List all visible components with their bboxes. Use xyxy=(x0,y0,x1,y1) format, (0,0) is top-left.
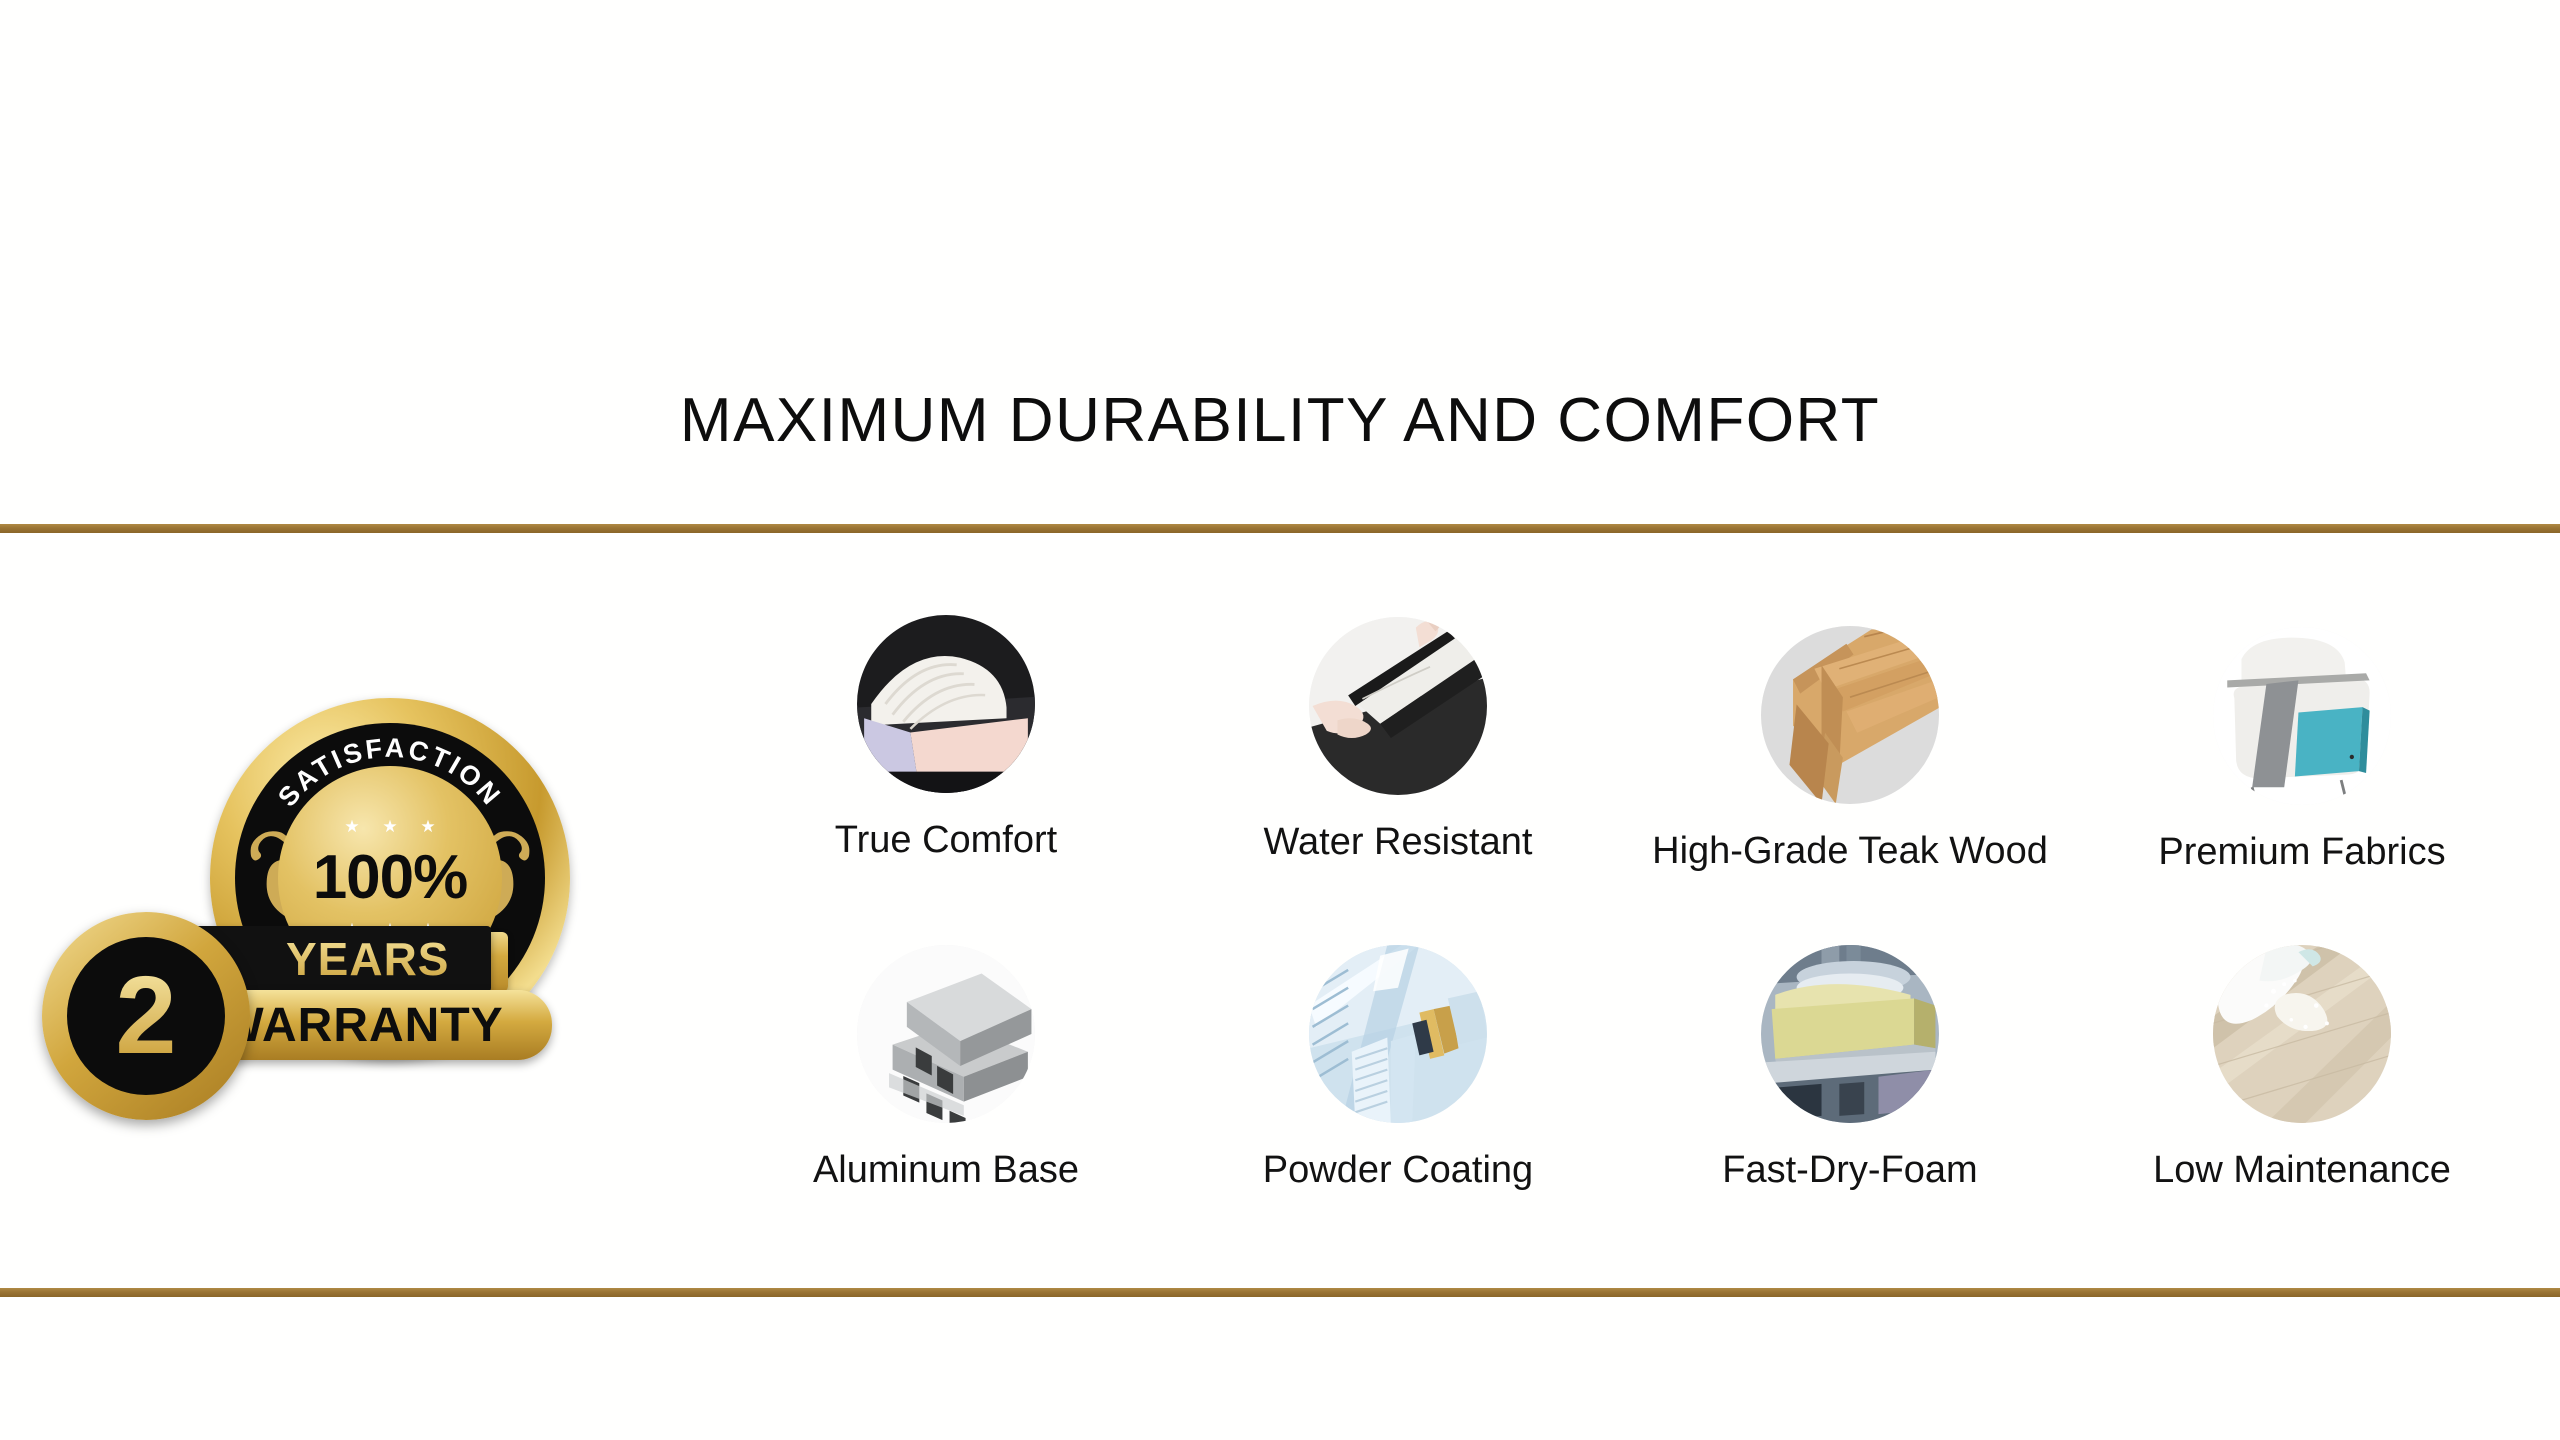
powder-coating-plant-icon xyxy=(1309,945,1487,1123)
divider-bottom xyxy=(0,1288,2560,1297)
feature-item-low-maintenance: Low Maintenance xyxy=(2076,945,2528,1192)
feature-item-premium-fabrics: Premium Fabrics xyxy=(2076,627,2528,874)
feature-item-powder-coating: Powder Coating xyxy=(1172,945,1624,1192)
teak-wood-corner-icon xyxy=(1761,626,1939,804)
seal-stars-top: ★ ★ ★ xyxy=(344,818,444,835)
liquid-on-fabric-icon xyxy=(2213,945,2391,1123)
badge-years-circle-inner: 2 xyxy=(67,937,225,1095)
feature-item-teak-wood: High-Grade Teak Wood xyxy=(1624,626,2076,874)
feature-item-fast-dry-foam: Fast-Dry-Foam xyxy=(1624,945,2076,1192)
foam-press-machine-icon xyxy=(1761,945,1939,1123)
feature-label: Water Resistant xyxy=(1264,821,1533,864)
feature-label: True Comfort xyxy=(835,819,1057,862)
badge-warranty-label: WARRANTY xyxy=(218,998,503,1053)
upholstered-armchair-icon xyxy=(2213,627,2391,805)
feature-item-true-comfort: True Comfort xyxy=(720,615,1172,874)
badge-years-label: YEARS xyxy=(286,932,449,986)
features-grid: True Comfort xyxy=(720,615,2530,1275)
feature-item-aluminum-base: Aluminum Base xyxy=(720,945,1172,1192)
seal-percent: 100% xyxy=(313,847,468,909)
feature-item-water-resistant: Water Resistant xyxy=(1172,617,1624,874)
badge-years-number: 2 xyxy=(115,961,176,1071)
features-row-2: Aluminum Base xyxy=(720,945,2530,1192)
slide-canvas: MAXIMUM DURABILITY AND COMFORT SATISFACT… xyxy=(0,0,2560,1440)
feature-label: Powder Coating xyxy=(1263,1149,1533,1192)
feature-label: Aluminum Base xyxy=(813,1149,1079,1192)
feature-label: Low Maintenance xyxy=(2153,1149,2451,1192)
warranty-badge: SATISFACTION GUARANTEED ❦ ❦ ★ ★ ★ 100% ★… xyxy=(28,690,608,1180)
feature-label: Fast-Dry-Foam xyxy=(1722,1149,1977,1192)
feature-label: Premium Fabrics xyxy=(2158,831,2445,874)
aluminum-extrusion-tubes-icon xyxy=(857,945,1035,1123)
cushion-foam-layers-icon xyxy=(857,615,1035,793)
feature-label: High-Grade Teak Wood xyxy=(1652,830,2048,873)
features-row-1: True Comfort xyxy=(720,615,2530,874)
badge-years-circle: 2 xyxy=(42,912,250,1120)
page-title: MAXIMUM DURABILITY AND COMFORT xyxy=(0,385,2560,456)
hands-lifting-fabric-cover-icon xyxy=(1309,617,1487,795)
divider-top xyxy=(0,524,2560,533)
